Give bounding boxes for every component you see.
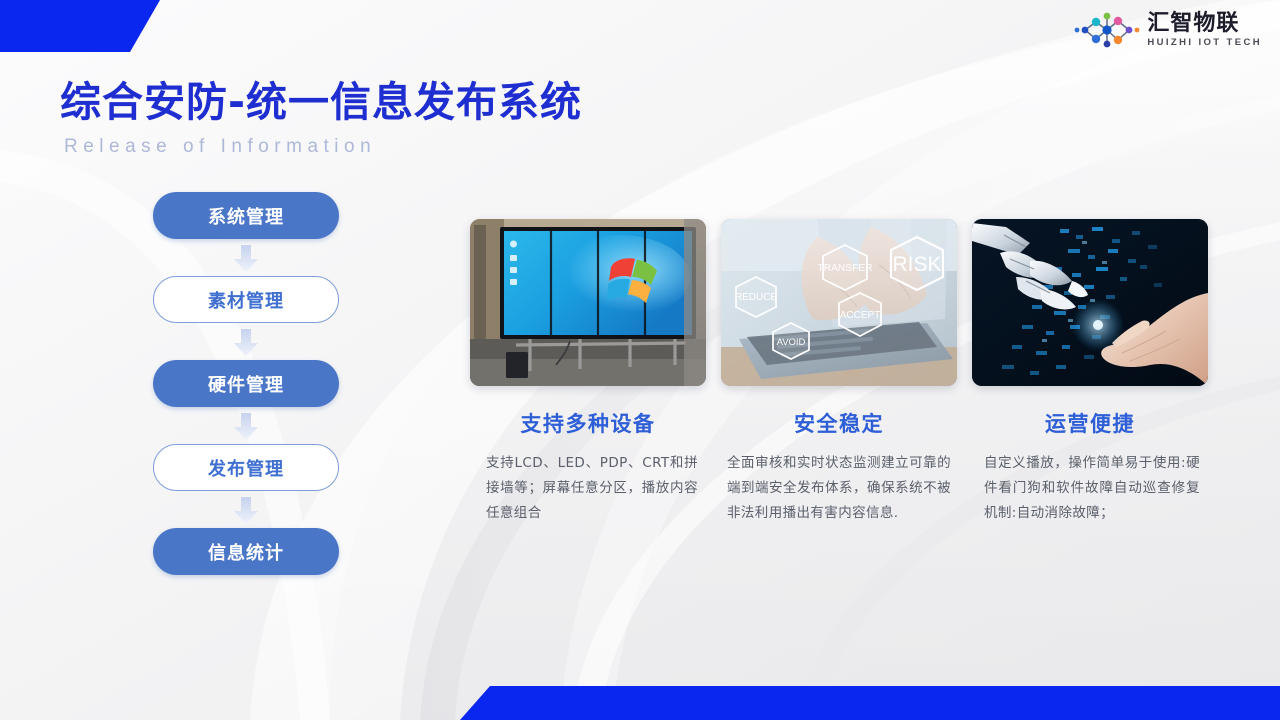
flow-step-hardware-management[interactable]: 硬件管理 — [153, 360, 339, 407]
feature-card-description: 自定义播放，操作简单易于使用:硬件看门狗和软件故障自动巡查修复机制:自动消除故障… — [972, 451, 1208, 526]
svg-text:TRANSFER: TRANSFER — [818, 263, 873, 274]
page-title-block: 综合安防-统一信息发布系统 Release of Information — [60, 68, 582, 158]
svg-text:REDUCE: REDUCE — [735, 292, 778, 303]
feature-card-title: 运营便捷 — [972, 408, 1208, 438]
arrow-down-icon — [233, 239, 259, 276]
arrow-down-icon — [233, 491, 259, 528]
process-flow: 系统管理 素材管理 硬件管理 发布管理 — [153, 192, 339, 575]
corner-accent-bottom-right — [460, 686, 1280, 720]
brand-logo: 汇智物联 HUIZHI IOT TECH — [1074, 12, 1262, 48]
feature-card: 支持多种设备 支持LCD、LED、PDP、CRT和拼接墙等；屏幕任意分区，播放内… — [470, 219, 706, 526]
feature-card: 运营便捷 自定义播放，操作简单易于使用:硬件看门狗和软件故障自动巡查修复机制:自… — [972, 219, 1208, 526]
flow-step-label: 系统管理 — [208, 203, 284, 229]
page-title: 综合安防-统一信息发布系统 — [60, 68, 582, 128]
feature-card-list: 支持多种设备 支持LCD、LED、PDP、CRT和拼接墙等；屏幕任意分区，播放内… — [470, 219, 1210, 526]
flow-step-label: 发布管理 — [208, 455, 284, 481]
arrow-down-icon — [233, 407, 259, 444]
flow-step-system-management[interactable]: 系统管理 — [153, 192, 339, 239]
feature-card-description: 全面审核和实时状态监测建立可靠的端到端安全发布体系，确保系统不被非法利用播出有害… — [721, 451, 957, 526]
molecule-network-icon — [1074, 12, 1140, 48]
risk-hexagons-image: RISK TRANSFER REDUCE ACCEPT AVOID — [721, 219, 957, 386]
flow-step-information-statistics[interactable]: 信息统计 — [153, 528, 339, 575]
svg-text:AVOID: AVOID — [777, 337, 806, 348]
page-subtitle: Release of Information — [64, 136, 582, 158]
svg-text:ACCEPT: ACCEPT — [840, 310, 881, 321]
logo-text-en: HUIZHI IOT TECH — [1147, 38, 1262, 48]
flow-step-label: 素材管理 — [208, 287, 284, 313]
feature-card-title: 支持多种设备 — [470, 408, 706, 438]
slide-canvas: 汇智物联 HUIZHI IOT TECH 综合安防-统一信息发布系统 Relea… — [0, 0, 1280, 720]
svg-text:RISK: RISK — [892, 253, 941, 276]
flow-step-material-management[interactable]: 素材管理 — [153, 276, 339, 323]
logo-text-cn: 汇智物联 — [1147, 12, 1262, 34]
flow-step-release-management[interactable]: 发布管理 — [153, 444, 339, 491]
robot-human-hand-image — [972, 219, 1208, 386]
video-wall-image — [470, 219, 706, 386]
feature-card: RISK TRANSFER REDUCE ACCEPT AVOID 安全稳定 全… — [721, 219, 957, 526]
flow-step-label: 信息统计 — [208, 539, 284, 565]
feature-card-title: 安全稳定 — [721, 408, 957, 438]
feature-card-description: 支持LCD、LED、PDP、CRT和拼接墙等；屏幕任意分区，播放内容任意组合 — [470, 451, 706, 526]
arrow-down-icon — [233, 323, 259, 360]
flow-step-label: 硬件管理 — [208, 371, 284, 397]
